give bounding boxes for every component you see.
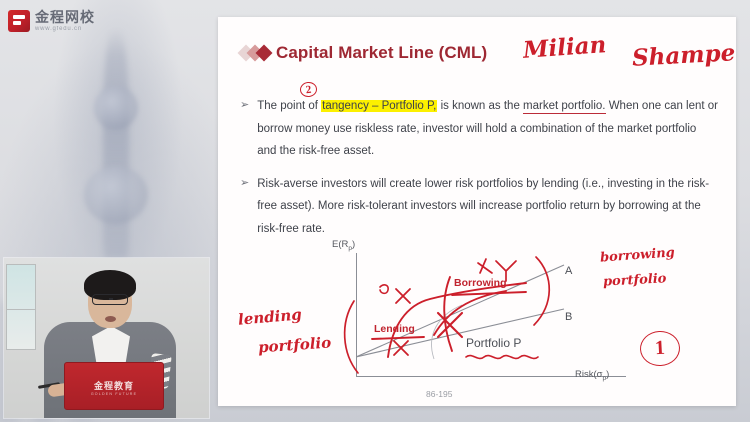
list-item: ➢ Risk-averse investors will create lowe… (240, 173, 718, 241)
bullet-text-2: Risk-averse investors will create lower … (257, 173, 718, 241)
bullet-text-1: The point of tangency – Portfolio P, is … (257, 95, 718, 163)
bullet-seg: The point of (257, 100, 321, 112)
bullet-seg: is known as the (437, 100, 523, 112)
bullet-seg-underline: market portfolio. (523, 100, 605, 114)
window-shape (6, 264, 36, 350)
arrow-bullet-icon: ➢ (240, 173, 249, 241)
laptop-brand-cn: 金程教育GOLDEN FUTURE (65, 379, 163, 396)
slide-title-text: Capital Market Line (CML) (276, 43, 487, 63)
bullet-list: ➢ The point of tangency – Portfolio P, i… (240, 95, 718, 250)
page-title: Capital Market Line (CML) (240, 43, 487, 63)
diamond-bullet-icon (240, 47, 267, 59)
gfedu-logo-icon (8, 10, 30, 32)
tower-sphere-lower (84, 166, 148, 224)
laptop-brand-en: GOLDEN FUTURE (65, 392, 163, 396)
bullet-seg-highlight: tangency – Portfolio P, (321, 100, 437, 112)
presenter-video[interactable]: 金程教育GOLDEN FUTURE (4, 258, 209, 418)
brand-logo: 金程网校 www.gfedu.cn (8, 10, 95, 32)
chart-red-ink-annotations (330, 239, 620, 391)
arrow-bullet-icon: ➢ (240, 95, 249, 163)
presenter-mouth (105, 316, 116, 322)
brand-url: www.gfedu.cn (35, 26, 95, 32)
list-item: ➢ The point of tangency – Portfolio P, i… (240, 95, 718, 163)
glasses-icon (92, 294, 128, 305)
laptop-lid: 金程教育GOLDEN FUTURE (64, 362, 164, 410)
brand-name-cn: 金程网校 (35, 10, 95, 24)
tower-sphere-upper (94, 86, 138, 130)
cml-chart: E(Rp) Risk(σp) A B Borrowing Lending Por… (330, 239, 620, 391)
